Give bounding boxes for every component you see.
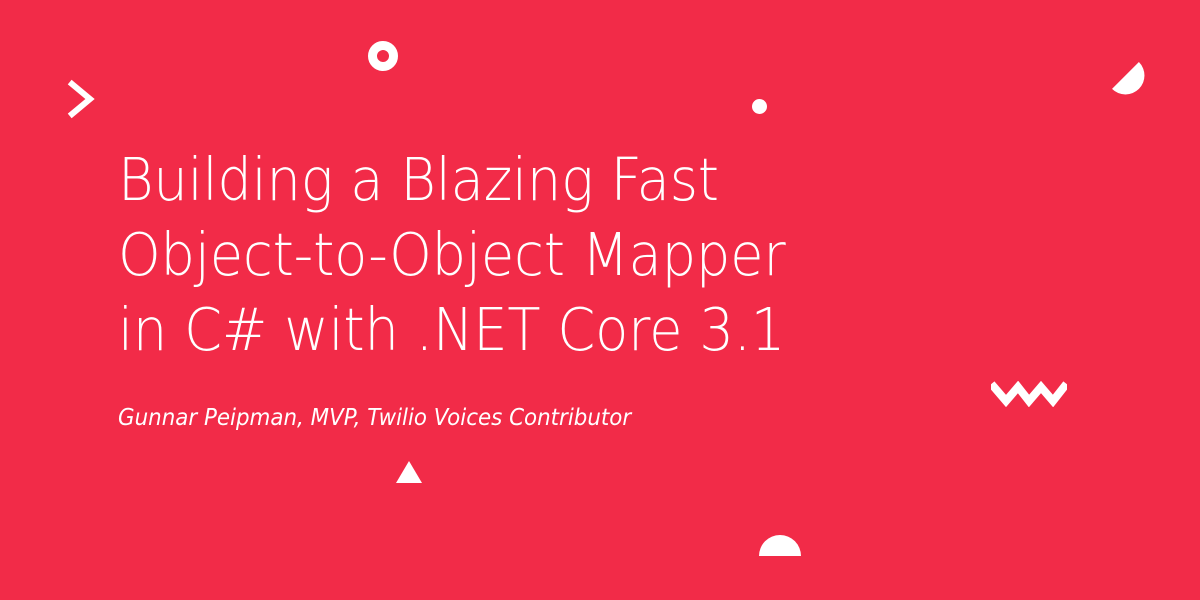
triangle-up-icon: [396, 461, 422, 483]
zigzag-icon: [991, 381, 1067, 407]
banner-text-block: Building a Blazing Fast Object-to-Object…: [118, 142, 878, 433]
author-byline: Gunnar Peipman, MVP, Twilio Voices Contr…: [118, 403, 825, 433]
blog-post-banner: Building a Blazing Fast Object-to-Object…: [0, 0, 1200, 600]
ring-icon: [368, 41, 398, 71]
page-title-line-2: Object-to-Object Mapper: [118, 217, 817, 292]
chevron-right-icon: [64, 78, 98, 120]
dome-icon: [759, 535, 801, 556]
half-disc-icon: [1110, 60, 1148, 98]
page-title-line-3: in C# with .NET Core 3.1: [118, 292, 817, 367]
dot-icon: [752, 99, 767, 114]
page-title-line-1: Building a Blazing Fast: [118, 142, 817, 217]
